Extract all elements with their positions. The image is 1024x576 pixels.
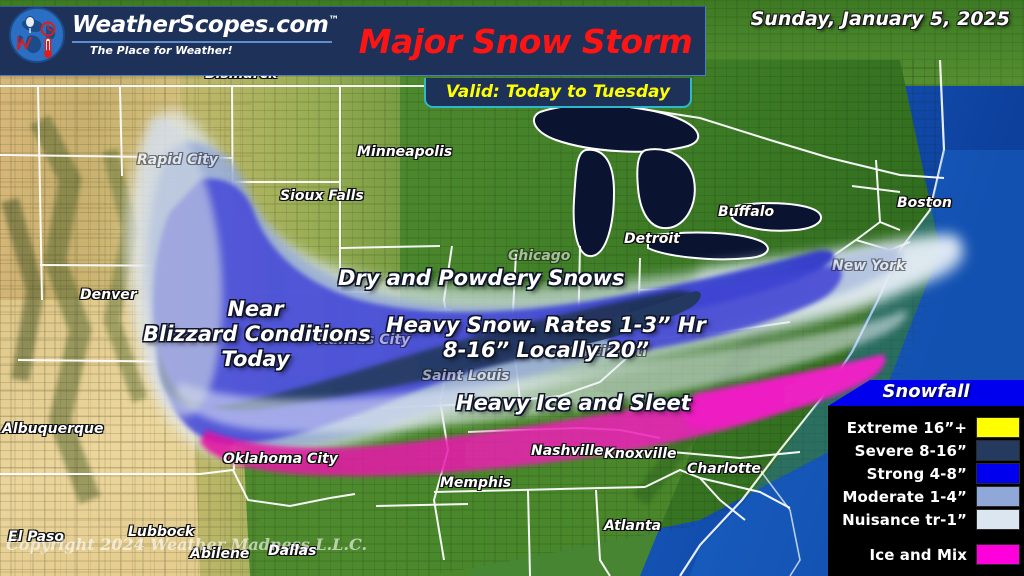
legend-row: Strong 4-8” [832,462,1020,485]
brand-name: WeatherScopes.com™ [72,12,339,38]
legend-row: Moderate 1-4” [832,485,1020,508]
legend-row-label: Strong 4-8” [832,465,976,483]
legend-row-label: Severe 8-16” [832,442,976,460]
legend-row: Ice and Mix [832,543,1020,566]
forecast-date: Sunday, January 5, 2025 [751,8,1010,30]
legend-color-swatch [976,440,1020,461]
valid-period-label: Valid: Today to Tuesday [446,82,670,102]
legend-title: Snowfall [828,381,1024,402]
legend-row: Nuisance tr-1” [832,508,1020,531]
globe-thermometer-icon [8,6,66,64]
weatherscopes-logo-icon[interactable] [8,6,66,64]
legend-color-swatch [976,486,1020,507]
title-panel: Major Snow Storm [345,6,706,76]
page-title: Major Snow Storm [359,22,693,61]
brand-name-text: WeatherScopes.com [72,12,328,38]
legend-row-label: Nuisance tr-1” [832,511,976,529]
trademark-symbol: ™ [328,13,339,26]
brand-underline [72,41,332,43]
legend-color-swatch [976,509,1020,530]
valid-period-box: Valid: Today to Tuesday [424,78,692,108]
legend-color-swatch [976,463,1020,484]
snowfall-legend: Snowfall Extreme 16”+Severe 8-16”Strong … [828,380,1024,576]
legend-row: Severe 8-16” [832,439,1020,462]
legend-row-label: Ice and Mix [832,546,976,564]
legend-body: Extreme 16”+Severe 8-16”Strong 4-8”Moder… [828,406,1024,576]
weather-map-screenshot: Copyright 2024 Weather Madness L.L.C. Bi… [0,0,1024,576]
legend-color-swatch [976,417,1020,438]
legend-row: Extreme 16”+ [832,416,1020,439]
legend-color-swatch [976,544,1020,565]
legend-row-label: Moderate 1-4” [832,488,976,506]
brand-block: WeatherScopes.com™ [72,12,339,38]
legend-row-label: Extreme 16”+ [832,419,976,437]
brand-tagline: The Place for Weather! [90,44,233,57]
